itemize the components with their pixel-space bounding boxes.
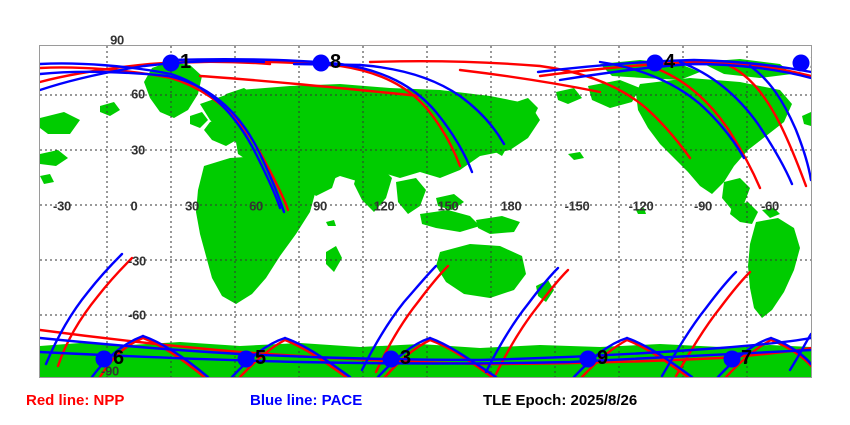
lon-tick-label: 60 <box>249 199 263 214</box>
lon-tick-label: -90 <box>694 199 712 214</box>
lon-tick-label: -60 <box>761 199 779 214</box>
lat-tick-label: -30 <box>128 254 146 269</box>
lon-tick-label: 30 <box>185 199 199 214</box>
legend-red-npp: Red line: NPP <box>26 392 124 409</box>
lon-tick-label: 90 <box>313 199 327 214</box>
figure-footer: Red line: NPP Blue line: PACE TLE Epoch:… <box>0 392 850 420</box>
lon-tick-label: -30 <box>53 199 71 214</box>
lat-tick-label: 30 <box>131 143 145 158</box>
lat-tick-label: 90 <box>110 33 124 48</box>
lon-tick-label: -150 <box>565 199 590 214</box>
legend-blue-pace: Blue line: PACE <box>250 392 362 409</box>
lon-tick-label: 0 <box>131 199 138 214</box>
tle-epoch-label: TLE Epoch: 2025/8/26 <box>483 392 637 409</box>
ground-track-figure: 1 2 3 4 5 6 7 8 <box>0 0 850 425</box>
lat-tick-label: -60 <box>128 308 146 323</box>
lat-tick-label: 60 <box>131 87 145 102</box>
lon-tick-label: 120 <box>374 199 395 214</box>
lon-tick-label: 180 <box>501 199 522 214</box>
lat-tick-label: -90 <box>101 364 119 379</box>
lon-tick-label: 150 <box>438 199 459 214</box>
lon-tick-label: -120 <box>629 199 654 214</box>
